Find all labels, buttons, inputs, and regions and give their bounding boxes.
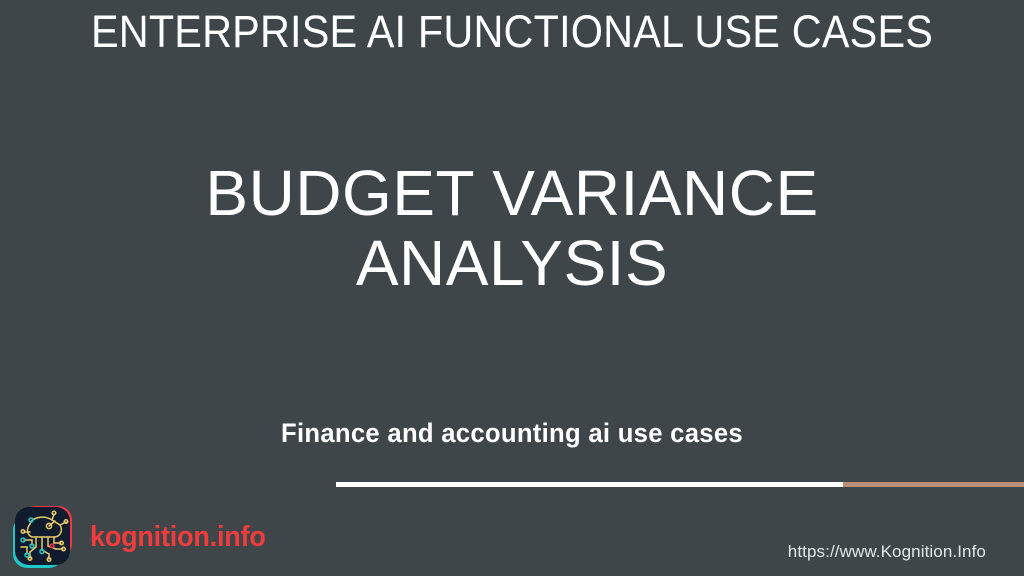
slide-eyebrow-heading: ENTERPRISE AI FUNCTIONAL USE CASES (41, 6, 983, 58)
presentation-slide: ENTERPRISE AI FUNCTIONAL USE CASES BUDGE… (0, 0, 1024, 576)
page-title-line-2: ANALYSIS (0, 228, 1024, 298)
circuit-brain-icon (8, 502, 78, 572)
divider-rule-primary (336, 482, 843, 487)
slide-subtitle: Finance and accounting ai use cases (26, 416, 999, 450)
page-title-line-1: BUDGET VARIANCE (0, 158, 1024, 228)
divider-rule-accent (843, 482, 1024, 487)
page-title: BUDGET VARIANCE ANALYSIS (0, 158, 1024, 298)
brand-wordmark: kognition.info (90, 522, 266, 552)
footer-website-url[interactable]: https://www.Kognition.Info (788, 541, 986, 563)
brand-logo-lockup[interactable]: kognition.info (8, 502, 279, 572)
